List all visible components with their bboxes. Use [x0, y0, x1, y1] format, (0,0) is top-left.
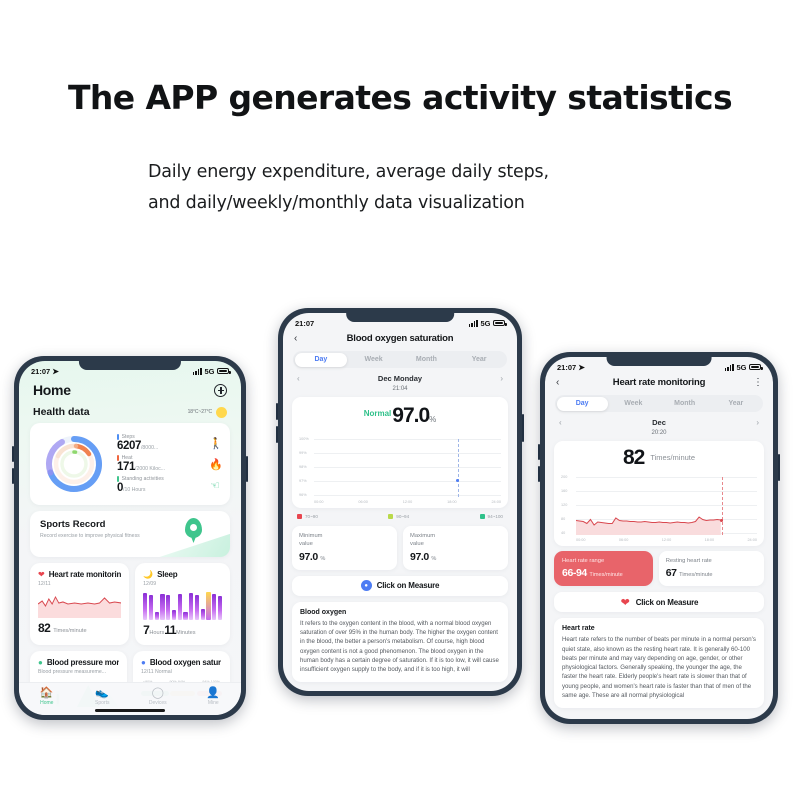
segment-month[interactable]: Month	[659, 397, 710, 411]
sleep-bar-chart	[143, 592, 222, 620]
x-tick-0: 00:00	[576, 538, 586, 542]
heart-rate-sparkline	[38, 592, 121, 618]
current-date-label: Dec	[571, 418, 747, 427]
legend-item-low: 70~90	[297, 514, 318, 519]
notch	[79, 361, 181, 370]
blood-pressure-card-title: Blood pressure mor	[47, 658, 119, 667]
health-data-section-header: Health data 18°C~27°C	[19, 400, 241, 423]
volume-up-button[interactable]	[12, 446, 14, 462]
reading-time: 21:04	[283, 386, 517, 392]
segment-week[interactable]: Week	[347, 353, 400, 367]
power-button[interactable]	[246, 456, 248, 482]
signal-icon	[725, 364, 734, 371]
heart-rate-stat-cards: Heart rate range 66-94 Times/minute Rest…	[554, 551, 764, 586]
segment-month[interactable]: Month	[400, 353, 453, 367]
info-title: Heart rate	[562, 625, 756, 632]
click-on-measure-button[interactable]: ❤ Click on Measure	[554, 592, 764, 612]
blood-oxygen-reading: Normal97.0%	[299, 403, 501, 431]
sleep-card-value: 7Hours11Minutes	[143, 623, 222, 637]
reading-value: 82	[623, 446, 644, 469]
segment-day[interactable]: Day	[295, 353, 348, 367]
date-selector: ‹ Dec ›	[545, 412, 773, 428]
blood-oxygen-plot: 100% 99% 98% 97% 96%	[299, 435, 501, 497]
heart-rate-series	[576, 477, 757, 535]
health-data-card[interactable]: Steps 6207/8000... 🚶 Heat 171	[30, 423, 230, 505]
tab-home-label: Home	[19, 700, 75, 706]
heart-rate-info-card: Heart rate Heart rate refers to the numb…	[554, 618, 764, 708]
blood-oxygen-x-axis: 00:00 06:00 12:00 18:00 24:00	[299, 497, 501, 504]
status-time: 21:07	[295, 319, 314, 328]
heart-rate-marker-line	[722, 477, 723, 535]
volume-down-button[interactable]	[538, 466, 540, 482]
chevron-left-icon[interactable]: ‹	[556, 377, 570, 388]
signal-icon	[193, 368, 202, 375]
nav-bar: ‹ Blood oxygen saturation	[283, 330, 517, 349]
power-button[interactable]	[522, 414, 524, 442]
metric-standing: Standing activities 0/10 Hours ☜	[117, 476, 221, 494]
resting-heart-rate-value: 67 Times/minute	[666, 567, 757, 579]
period-segmented-control[interactable]: Day Week Month Year	[555, 395, 763, 412]
activity-rings	[37, 432, 111, 496]
dots-vertical-icon[interactable]: ⋮	[748, 377, 762, 388]
next-date-button[interactable]: ›	[491, 374, 503, 383]
info-body: Heart rate refers to the number of beats…	[562, 635, 756, 700]
page-subtitle: Daily energy expenditure, average daily …	[0, 157, 800, 218]
phone-center: 21:07 5G ‹ Blood oxygen saturation Day W…	[278, 308, 522, 696]
chevron-left-icon[interactable]: ‹	[294, 333, 308, 344]
y-tick-3: 80	[561, 517, 565, 521]
notch	[346, 313, 454, 322]
min-max-cards: Minimumvalue 97.0 % Maximumvalue 97.0 %	[292, 526, 508, 570]
heart-rate-x-axis: 00:00 06:00 12:00 18:00 24:00	[561, 535, 757, 542]
tab-bar: 🏠 Home 👟 Sports ◯ Devices 👤 Mine	[19, 682, 241, 715]
x-tick-2: 12:00	[662, 538, 672, 542]
metric-heat-value: 171/2000 Kiloc...	[117, 461, 204, 473]
location-arrow-icon: ➤	[52, 367, 59, 376]
y-tick-4: 40	[561, 531, 565, 535]
x-tick-3: 18:00	[447, 500, 457, 504]
notch	[607, 357, 712, 366]
date-selector: ‹ Dec Monday ›	[283, 368, 517, 384]
x-tick-1: 06:00	[619, 538, 629, 542]
next-date-button[interactable]: ›	[747, 418, 759, 427]
home-title: Home	[33, 382, 71, 398]
minimum-value-card: Minimumvalue 97.0 %	[292, 526, 397, 570]
tab-home[interactable]: 🏠 Home	[19, 687, 75, 706]
minimum-value-label: Minimumvalue	[299, 532, 390, 549]
blood-oxygen-card-status: 12/11 Normal	[141, 669, 222, 675]
y-tick-0: 200	[561, 475, 567, 479]
home-indicator	[95, 709, 165, 712]
map-pin-icon	[185, 518, 202, 538]
metric-heat: Heat 171/2000 Kiloc... 🔥	[117, 455, 221, 473]
heart-rate-card-date: 12/11	[38, 581, 121, 587]
plus-circle-icon[interactable]	[214, 384, 227, 397]
volume-up-button[interactable]	[538, 444, 540, 460]
tab-sports-label: Sports	[75, 700, 131, 706]
blood-oxygen-legend: 70~90 90~94 94~100	[283, 508, 517, 521]
nav-bar: ‹ Heart rate monitoring ⋮	[545, 374, 773, 393]
reading-time: 20:20	[545, 430, 773, 436]
battery-icon	[217, 368, 229, 374]
y-tick-1: 160	[561, 489, 567, 493]
network-label: 5G	[204, 367, 214, 376]
metric-steps-value: 6207/8000...	[117, 440, 204, 452]
metric-standing-value: 0/10 Hours	[117, 482, 204, 494]
click-on-measure-label: Click on Measure	[377, 581, 440, 590]
heart-rate-plot: 200 160 120 80 40	[561, 473, 757, 535]
resting-heart-rate-card: Resting heart rate 67 Times/minute	[659, 551, 764, 586]
x-tick-4: 24:00	[747, 538, 757, 542]
heart-icon: ❤	[38, 570, 45, 579]
weather-widget: 18°C~27°C	[188, 407, 227, 418]
sports-record-card[interactable]: Sports Record Record exercise to improve…	[30, 511, 230, 557]
y-tick-4: 96%	[299, 493, 307, 497]
blood-oxygen-card-title: Blood oxygen satur	[150, 658, 221, 667]
click-on-measure-label: Click on Measure	[636, 598, 699, 607]
watch-icon: ◯	[130, 687, 186, 699]
legend-item-high: 94~100	[480, 514, 503, 519]
tab-mine-label: Mine	[186, 700, 242, 706]
blood-oxygen-info-card: Blood oxygen It refers to the oxygen con…	[292, 602, 508, 683]
current-date-label: Dec Monday	[309, 374, 491, 383]
segment-week[interactable]: Week	[608, 397, 659, 411]
mini-cards-row-1: ❤ Heart rate monitorin 12/11 82 Times/mi…	[30, 563, 230, 645]
y-tick-2: 120	[561, 503, 567, 507]
metric-steps: Steps 6207/8000... 🚶	[117, 434, 221, 452]
network-label: 5G	[736, 363, 746, 372]
prev-date-button[interactable]: ‹	[559, 418, 571, 427]
subtitle-line-2: and daily/weekly/monthly data visualizat…	[148, 188, 800, 219]
click-on-measure-button[interactable]: ● Click on Measure	[292, 576, 508, 596]
heart-rate-card-value: 82 Times/minute	[38, 621, 121, 635]
x-tick-0: 00:00	[314, 500, 324, 504]
heart-icon: ❤	[620, 597, 631, 608]
home-icon: 🏠	[19, 687, 75, 699]
resting-heart-rate-label: Resting heart rate	[666, 557, 757, 565]
maximum-value-card: Maximumvalue 97.0 %	[403, 526, 508, 570]
maximum-value: 97.0 %	[410, 551, 501, 563]
heart-rate-range-value: 66-94 Times/minute	[562, 567, 645, 579]
reading-value: 97.0	[392, 404, 429, 427]
flame-icon: 🔥	[209, 458, 221, 471]
person-icon: 👤	[186, 687, 242, 699]
page-header: The APP generates activity statistics Da…	[0, 0, 800, 218]
tab-devices[interactable]: ◯ Devices	[130, 687, 186, 706]
volume-down-button[interactable]	[12, 468, 14, 484]
tab-devices-label: Devices	[130, 700, 186, 706]
tab-mine[interactable]: 👤 Mine	[186, 687, 242, 706]
heart-rate-range-card: Heart rate range 66-94 Times/minute	[554, 551, 653, 586]
drop-icon: ●	[38, 658, 43, 667]
volume-up-button[interactable]	[276, 403, 278, 420]
segment-year[interactable]: Year	[710, 397, 761, 411]
segment-year[interactable]: Year	[453, 353, 506, 367]
blood-oxygen-marker-line	[458, 439, 459, 497]
measure-icon: ●	[361, 580, 372, 591]
stand-icon: ☜	[209, 479, 221, 492]
network-label: 5G	[480, 319, 490, 328]
legend-item-mid: 90~94	[388, 514, 409, 519]
sleep-card[interactable]: 🌙 Sleep 12/09 7Hours11Minutes	[135, 563, 230, 645]
battery-icon	[493, 320, 505, 326]
y-tick-2: 98%	[299, 465, 307, 469]
volume-down-button[interactable]	[276, 426, 278, 443]
page-title: Heart rate monitoring	[570, 377, 748, 388]
y-tick-0: 100%	[299, 437, 309, 441]
walk-icon: 🚶	[209, 437, 221, 450]
heart-rate-card[interactable]: ❤ Heart rate monitorin 12/11 82 Times/mi…	[30, 563, 129, 645]
location-arrow-icon: ➤	[578, 363, 585, 372]
sun-icon	[216, 407, 227, 418]
reading-status: Normal	[364, 409, 392, 418]
x-tick-1: 06:00	[358, 500, 368, 504]
status-time: 21:07	[31, 367, 50, 376]
subtitle-line-1: Daily energy expenditure, average daily …	[148, 157, 800, 188]
signal-icon	[469, 320, 478, 327]
page-title: Blood oxygen saturation	[308, 333, 492, 344]
x-tick-3: 18:00	[705, 538, 715, 542]
segment-day[interactable]: Day	[557, 397, 608, 411]
heart-rate-range-label: Heart rate range	[562, 557, 645, 565]
phone-left: 21:07 ➤ 5G Home Health data 18°C~27°C	[14, 356, 246, 720]
health-data-label: Health data	[33, 406, 90, 418]
y-tick-1: 99%	[299, 451, 307, 455]
y-tick-3: 97%	[299, 479, 307, 483]
heart-rate-card-title: Heart rate monitorin	[49, 570, 121, 579]
heart-rate-reading: 82Times/minute	[561, 447, 757, 469]
minimum-value: 97.0 %	[299, 551, 390, 563]
moon-icon: 🌙	[143, 570, 153, 579]
phone-right: 21:07 ➤ 5G ‹ Heart rate monitoring ⋮ Day…	[540, 352, 778, 724]
heart-rate-chart-card: 82Times/minute 200 160 120 80 40	[554, 441, 764, 546]
page-title: The APP generates activity statistics	[0, 78, 800, 117]
x-tick-2: 12:00	[403, 500, 413, 504]
tab-sports[interactable]: 👟 Sports	[75, 687, 131, 706]
battery-icon	[749, 364, 761, 370]
period-segmented-control[interactable]: Day Week Month Year	[293, 351, 507, 368]
reading-unit: %	[429, 415, 436, 424]
reading-unit: Times/minute	[650, 453, 695, 462]
info-title: Blood oxygen	[300, 609, 500, 616]
blood-pressure-card-subtitle: Blood pressure measureme...	[38, 669, 119, 675]
weather-temp: 18°C~27°C	[188, 409, 212, 415]
power-button[interactable]	[778, 454, 780, 481]
sleep-card-date: 12/09	[143, 581, 222, 587]
prev-date-button[interactable]: ‹	[297, 374, 309, 383]
status-time: 21:07	[557, 363, 576, 372]
blood-oxygen-chart-card: Normal97.0% 100% 99% 98% 97% 96% 00:00 0…	[292, 397, 508, 508]
x-tick-4: 24:00	[491, 500, 501, 504]
shoe-icon: 👟	[75, 687, 131, 699]
sleep-card-title: Sleep	[157, 570, 177, 579]
circle-icon: ●	[141, 658, 146, 667]
maximum-value-label: Maximumvalue	[410, 532, 501, 549]
home-header: Home	[19, 378, 241, 400]
info-body: It refers to the oxygen content in the b…	[300, 619, 500, 675]
